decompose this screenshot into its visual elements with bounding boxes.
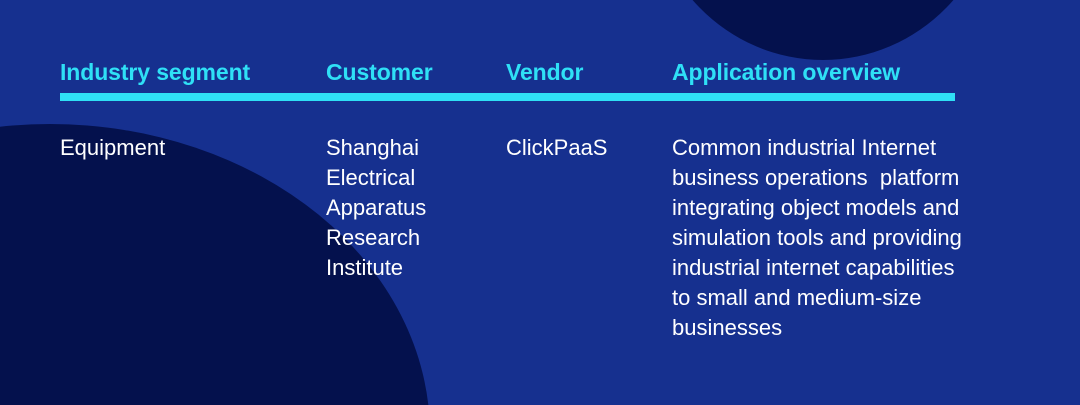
- cell-customer-line: Electrical: [326, 163, 491, 193]
- comparison-table: Industry segment Customer Vendor Applica…: [0, 0, 1080, 405]
- cell-customer-line: Shanghai: [326, 133, 491, 163]
- column-header-industry-segment: Industry segment: [60, 58, 250, 86]
- table-header-row: Industry segment Customer Vendor Applica…: [60, 58, 1020, 88]
- cell-application-overview-line: industrial internet capabilities: [672, 253, 1072, 283]
- cell-industry-segment: Equipment: [60, 133, 310, 163]
- cell-application-overview-line: to small and medium-size: [672, 283, 1072, 313]
- cell-customer: Shanghai Electrical Apparatus Research I…: [326, 133, 491, 283]
- cell-application-overview-line: businesses: [672, 313, 1072, 343]
- slide-canvas: Industry segment Customer Vendor Applica…: [0, 0, 1080, 405]
- column-header-application-overview: Application overview: [672, 58, 900, 86]
- header-underline-rule: [60, 93, 955, 101]
- cell-customer-line: Research: [326, 223, 491, 253]
- cell-customer-line: Institute: [326, 253, 491, 283]
- column-header-customer: Customer: [326, 58, 433, 86]
- cell-application-overview: Common industrial Internet business oper…: [672, 133, 1072, 343]
- column-header-vendor: Vendor: [506, 58, 583, 86]
- cell-application-overview-line: business operations platform: [672, 163, 1072, 193]
- cell-application-overview-line: simulation tools and providing: [672, 223, 1072, 253]
- cell-vendor: ClickPaaS: [506, 133, 666, 163]
- cell-application-overview-line: integrating object models and: [672, 193, 1072, 223]
- cell-customer-line: Apparatus: [326, 193, 491, 223]
- cell-application-overview-line: Common industrial Internet: [672, 133, 1072, 163]
